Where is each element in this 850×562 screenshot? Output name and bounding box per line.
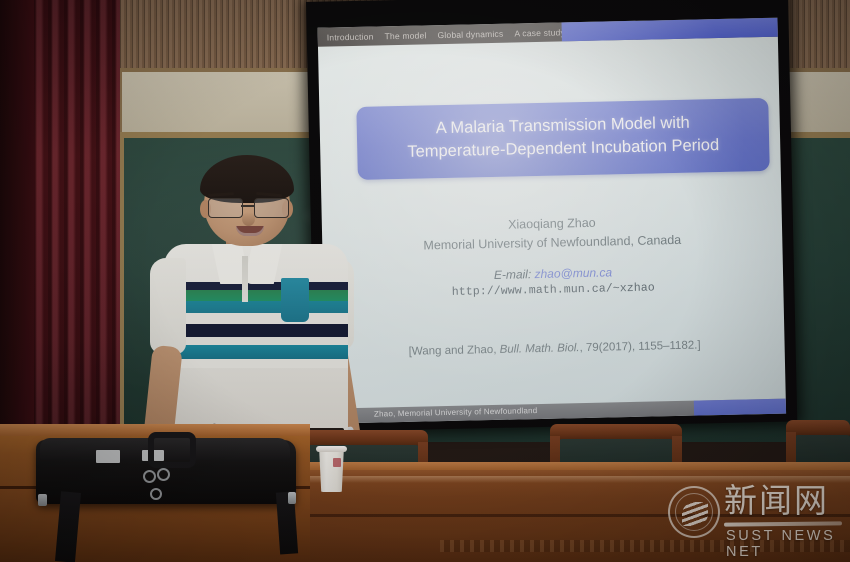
slide-citation: [Wang and Zhao, Bull. Math. Biol., 79(20…	[325, 338, 785, 360]
shirt-stripe-4	[164, 313, 348, 324]
paper-cup	[318, 448, 345, 492]
photo-canvas: Introduction The model Global dynamics A…	[0, 0, 850, 562]
shirt-stripe-7	[164, 345, 348, 359]
shirt-stripe-2	[164, 290, 348, 301]
watermark: 新闻网 SUST NEWS NET	[668, 484, 844, 544]
nav-item-the-model[interactable]: The model	[384, 30, 426, 41]
navbar-accent-block	[562, 18, 778, 42]
shirt-stripe-6	[164, 337, 348, 345]
lens-right	[254, 198, 289, 218]
watermark-chinese-text: 新闻网	[724, 484, 829, 517]
glasses-bridge	[241, 205, 254, 207]
citation-journal: Bull. Math. Biol.	[500, 342, 580, 356]
email-label: E-mail:	[494, 267, 532, 282]
paper-cup-logo	[333, 458, 341, 467]
lens-left	[208, 198, 243, 218]
citation-close: , 79(2017), 1155–1182.]	[579, 339, 700, 354]
citation-open: [Wang and Zhao,	[409, 344, 500, 358]
slide-footer-text: Zhao, Memorial University of Newfoundlan…	[374, 406, 538, 419]
bag-d-ring-1	[143, 470, 156, 483]
nav-item-global-dynamics[interactable]: Global dynamics	[437, 28, 503, 39]
bag-d-ring-2	[157, 468, 170, 481]
shirt-stripe-5	[164, 324, 348, 337]
laptop-bag-handle	[148, 432, 196, 468]
watermark-english-text: SUST NEWS NET	[726, 528, 844, 560]
bag-tab-1	[96, 450, 120, 463]
watermark-seal-icon	[668, 486, 720, 538]
watermark-brush-underline	[724, 521, 842, 526]
bag-d-ring-3	[150, 488, 162, 500]
watermark-rays-icon	[682, 502, 708, 526]
nav-item-a-case-study[interactable]: A case study	[514, 27, 565, 38]
paper-cup-rim	[316, 446, 347, 452]
nav-item-introduction[interactable]: Introduction	[327, 31, 374, 42]
slide-author-block: Xiaoqiang Zhao Memorial University of Ne…	[322, 210, 784, 302]
shirt-stripe-8	[164, 359, 348, 368]
shirt-chest-pocket	[281, 278, 309, 322]
projection-screen: Introduction The model Global dynamics A…	[306, 0, 797, 432]
slide-footer-accent	[694, 399, 786, 416]
slide-surface: Introduction The model Global dynamics A…	[318, 18, 787, 424]
bag-strap-clip-right	[288, 492, 296, 504]
shirt-stripe-3	[164, 301, 348, 313]
nose	[242, 212, 255, 226]
presenter-left-sleeve	[150, 258, 186, 354]
email-link[interactable]: zhao@mun.ca	[534, 265, 612, 281]
slide-title-box: A Malaria Transmission Model with Temper…	[356, 98, 769, 180]
shirt-placket	[242, 256, 248, 302]
bag-strap-clip-left	[38, 494, 47, 506]
